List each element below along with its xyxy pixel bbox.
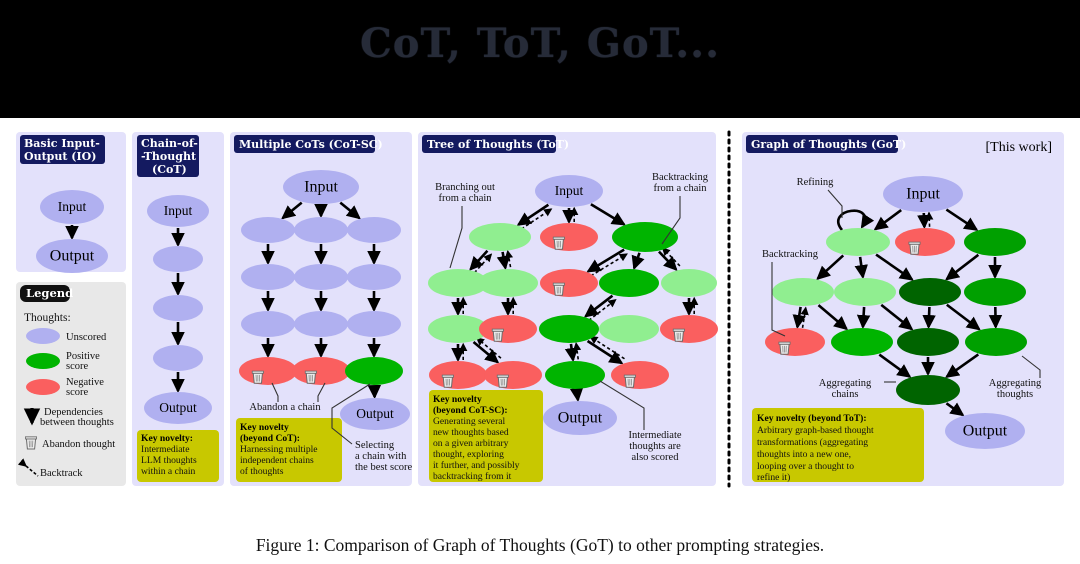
node-tot-L2b[interactable] xyxy=(478,269,538,297)
node-ellipse xyxy=(153,295,203,321)
node-got-D[interactable] xyxy=(772,278,834,306)
panel-title-got: Graph of Thoughts (GoT) xyxy=(746,135,906,153)
figure-area: InputOutputInputOutputInputOutputInputOu… xyxy=(0,118,1080,564)
node-tot-R2a[interactable] xyxy=(599,269,659,297)
note-cot-l1: Intermediate xyxy=(141,444,189,455)
annotation-agg-thoughts-l1: Aggregating xyxy=(989,378,1042,389)
annotation-selecting-l1: Selecting xyxy=(355,440,395,451)
note-got-l4: looping over a thought to xyxy=(757,461,854,472)
note-tot-l6: backtracking from it xyxy=(433,471,512,482)
page-root: CoT, ToT, GoT... xyxy=(0,0,1080,564)
legend-swatch-negative xyxy=(26,379,60,395)
trash-icon xyxy=(442,375,453,387)
node-tot-R1[interactable] xyxy=(612,222,678,252)
note-tot-title-1: Key novelty xyxy=(433,394,482,405)
panel-title-cot-l2: -Thought xyxy=(141,150,197,163)
node-ellipse xyxy=(241,264,295,290)
node-cotsc-c1[interactable] xyxy=(347,217,401,243)
node-label: Input xyxy=(164,203,193,218)
legend-label-abandon: Abandon thought xyxy=(42,439,115,450)
node-ellipse xyxy=(294,217,348,243)
node-cot-n3[interactable] xyxy=(153,345,203,371)
node-got-L[interactable] xyxy=(896,375,960,405)
trash-icon xyxy=(553,283,564,295)
panel-title-tot: Tree of Thoughts (ToT) xyxy=(422,135,569,153)
node-label: Input xyxy=(304,179,338,196)
node-cotsc-b1[interactable] xyxy=(294,217,348,243)
node-ellipse xyxy=(294,264,348,290)
annotation-selecting-l2: a chain with xyxy=(355,451,407,462)
trash-icon xyxy=(305,371,316,383)
node-io-in[interactable]: Input xyxy=(40,190,104,224)
node-got-F[interactable] xyxy=(899,278,961,306)
trash-icon xyxy=(497,375,508,387)
annotation-abandon-a-chain: Abandon a chain xyxy=(249,402,321,413)
note-cotsc-title-1: Key novelty xyxy=(240,422,289,433)
figure-caption: Figure 1: Comparison of Graph of Thought… xyxy=(0,535,1080,556)
note-got-l1: Arbitrary graph-based thought xyxy=(757,425,874,436)
node-tot-R3a[interactable] xyxy=(599,315,659,343)
legend-title: Legend xyxy=(26,286,73,300)
page-title: CoT, ToT, GoT... xyxy=(360,20,720,67)
node-ellipse xyxy=(540,223,598,251)
node-got-C[interactable] xyxy=(964,228,1026,256)
note-cot-l3: within a chain xyxy=(141,466,196,477)
node-tot-M2[interactable] xyxy=(540,269,598,297)
node-tot-L3b[interactable] xyxy=(479,315,537,343)
trash-icon xyxy=(909,242,920,254)
note-tot-l1: Generating several xyxy=(433,416,506,427)
node-ellipse xyxy=(241,217,295,243)
node-tot-R3b[interactable] xyxy=(660,315,718,343)
node-ellipse xyxy=(826,228,890,256)
panel-title-cot-l1: Chain-of- xyxy=(141,137,198,150)
annotation-agg-chains-l1: Aggregating xyxy=(819,378,872,389)
node-got-A[interactable] xyxy=(826,228,890,256)
annotation-tot-backtracking-l2: from a chain xyxy=(653,183,707,194)
legend-swatch-positive xyxy=(26,353,60,369)
node-cotsc-b4[interactable] xyxy=(292,357,350,385)
panel-title-cotsc: Multiple CoTs (CoT-SC) xyxy=(234,135,383,153)
panel-title-tot: Tree of Thoughts (ToT) xyxy=(427,138,569,151)
node-got-I[interactable] xyxy=(831,328,893,356)
node-ellipse xyxy=(896,375,960,405)
note-cotsc-l3: of thoughts xyxy=(240,466,284,477)
annotation-agg-thoughts-l2: thoughts xyxy=(997,389,1033,400)
panel-title-cotsc: Multiple CoTs (CoT-SC) xyxy=(239,138,383,151)
node-got-K[interactable] xyxy=(965,328,1027,356)
node-tot-M3[interactable] xyxy=(539,315,599,343)
annotation-selecting-l3: the best score xyxy=(355,462,412,473)
node-ellipse xyxy=(347,217,401,243)
node-ellipse xyxy=(478,269,538,297)
annotation-intermediate-l2: thoughts are xyxy=(629,441,681,452)
node-got-B[interactable] xyxy=(895,228,955,256)
annotation-branching-l2: from a chain xyxy=(438,193,492,204)
node-ellipse xyxy=(153,345,203,371)
note-cotsc-title-2: (beyond CoT): xyxy=(240,433,300,444)
node-ellipse xyxy=(239,357,297,385)
node-ellipse xyxy=(765,328,825,356)
node-got-G[interactable] xyxy=(964,278,1026,306)
node-tot-R4[interactable] xyxy=(611,361,669,389)
node-cotsc-c4[interactable] xyxy=(345,357,403,385)
note-cot: Key novelty: Intermediate LLM thoughts w… xyxy=(137,430,219,482)
node-got-in[interactable]: Input xyxy=(883,176,963,212)
node-ellipse xyxy=(661,269,717,297)
node-io-out[interactable]: Output xyxy=(36,239,108,273)
node-cotsc-c2[interactable] xyxy=(347,264,401,290)
node-label: Input xyxy=(58,199,87,214)
title-bar: CoT, ToT, GoT... xyxy=(0,0,1080,118)
legend-label-negative-2: score xyxy=(66,387,88,398)
node-ellipse xyxy=(345,357,403,385)
note-cot-title: Key novelty: xyxy=(141,433,193,444)
node-tot-M4[interactable] xyxy=(545,361,605,389)
node-cot-in[interactable]: Input xyxy=(147,195,209,227)
note-got-l2: transformations (aggregating xyxy=(757,437,868,448)
node-label: Output xyxy=(50,248,95,265)
annotation-got-backtracking: Backtracking xyxy=(762,249,819,260)
node-tot-M1[interactable] xyxy=(540,223,598,251)
panel-title-got: Graph of Thoughts (GoT) xyxy=(751,138,906,151)
note-tot-title-2: (beyond CoT-SC): xyxy=(433,405,508,416)
node-ellipse xyxy=(599,269,659,297)
node-ellipse xyxy=(899,278,961,306)
note-cotsc-l1: Harnessing multiple xyxy=(240,444,318,455)
node-ellipse xyxy=(347,311,401,337)
note-cotsc-l2: independent chains xyxy=(240,455,314,466)
node-label: Output xyxy=(159,400,197,415)
node-cot-n2[interactable] xyxy=(153,295,203,321)
node-ellipse xyxy=(831,328,893,356)
node-ellipse xyxy=(292,357,350,385)
node-cotsc-a2[interactable] xyxy=(241,264,295,290)
node-tot-in[interactable]: Input xyxy=(535,175,603,207)
trash-icon xyxy=(779,342,790,354)
node-cotsc-a3[interactable] xyxy=(241,311,295,337)
node-label: Output xyxy=(356,406,394,421)
node-ellipse xyxy=(539,315,599,343)
legend-trash-icon xyxy=(25,437,36,449)
node-got-out[interactable]: Output xyxy=(945,413,1025,449)
annotation-refining: Refining xyxy=(797,177,834,188)
legend-label-positive-2: score xyxy=(66,361,88,372)
node-cot-n1[interactable] xyxy=(153,246,203,272)
this-work-label: [This work] xyxy=(986,140,1053,155)
note-got-l3: thoughts into a new one, xyxy=(757,449,851,460)
edge-got-in-B xyxy=(924,213,925,227)
node-ellipse xyxy=(611,361,669,389)
trash-icon xyxy=(492,329,503,341)
annotation-branching-l1: Branching out xyxy=(435,182,495,193)
node-tot-L4b[interactable] xyxy=(484,361,542,389)
node-ellipse xyxy=(545,361,605,389)
node-tot-R2b[interactable] xyxy=(661,269,717,297)
node-ellipse xyxy=(964,278,1026,306)
trash-icon xyxy=(624,375,635,387)
note-tot-l2: new thoughts based xyxy=(433,427,509,438)
edge-tot-M4-out xyxy=(577,390,578,400)
node-ellipse xyxy=(612,222,678,252)
note-got-title: Key novelty (beyond ToT): xyxy=(757,413,867,424)
edge-backtrack-got-B-in xyxy=(929,213,930,227)
node-ellipse xyxy=(347,264,401,290)
node-ellipse xyxy=(964,228,1026,256)
annotation-tot-backtracking-l1: Backtracking xyxy=(652,172,709,183)
note-got-l5: refine it) xyxy=(757,472,790,483)
node-got-H[interactable] xyxy=(765,328,825,356)
note-cot-l2: LLM thoughts xyxy=(141,455,197,466)
node-ellipse xyxy=(241,311,295,337)
note-cotsc: Key novelty (beyond CoT): Harnessing mul… xyxy=(236,418,342,482)
note-tot-l3: on a given arbitrary xyxy=(433,438,509,449)
node-ellipse xyxy=(599,315,659,343)
annotation-intermediate-l3: also scored xyxy=(632,452,680,463)
node-cotsc-c3[interactable] xyxy=(347,311,401,337)
node-cotsc-a1[interactable] xyxy=(241,217,295,243)
node-label: Output xyxy=(558,410,603,427)
figure-svg: InputOutputInputOutputInputOutputInputOu… xyxy=(0,118,1080,564)
note-tot-l4: thought, exploring xyxy=(433,449,504,460)
legend-label-backtrack: Backtrack xyxy=(40,468,83,479)
edge-got-E-I xyxy=(863,307,864,327)
note-got: Key novelty (beyond ToT): Arbitrary grap… xyxy=(752,408,924,483)
node-ellipse xyxy=(294,311,348,337)
node-cotsc-out[interactable]: Output xyxy=(340,398,410,430)
node-label: Input xyxy=(906,186,940,203)
node-ellipse xyxy=(540,269,598,297)
node-cot-out[interactable]: Output xyxy=(144,392,212,424)
node-ellipse xyxy=(897,328,959,356)
legend-label-dependencies-2: between thoughts xyxy=(40,417,114,428)
node-cotsc-in[interactable]: Input xyxy=(283,170,359,204)
node-label: Input xyxy=(555,183,584,198)
node-tot-out[interactable]: Output xyxy=(543,401,617,435)
node-ellipse xyxy=(660,315,718,343)
node-got-E[interactable] xyxy=(834,278,896,306)
node-tot-L1[interactable] xyxy=(469,223,531,251)
annotation-agg-chains-l2: chains xyxy=(832,389,859,400)
node-cotsc-a4[interactable] xyxy=(239,357,297,385)
trash-icon xyxy=(252,371,263,383)
panel-title-cot: Chain-of- -Thought (CoT) xyxy=(137,135,199,177)
node-cotsc-b2[interactable] xyxy=(294,264,348,290)
panel-title-io-l2: Output (IO) xyxy=(24,150,96,163)
node-ellipse xyxy=(484,361,542,389)
node-tot-L4a[interactable] xyxy=(429,361,487,389)
node-ellipse xyxy=(895,228,955,256)
node-ellipse xyxy=(772,278,834,306)
node-ellipse xyxy=(153,246,203,272)
node-cotsc-b3[interactable] xyxy=(294,311,348,337)
edge-got-F-J xyxy=(929,307,930,327)
legend-label-unscored: Unscored xyxy=(66,332,107,343)
note-tot-l5: it further, and possibly xyxy=(433,460,520,471)
trash-icon xyxy=(673,329,684,341)
node-got-J[interactable] xyxy=(897,328,959,356)
legend-thoughts-header: Thoughts: xyxy=(24,312,71,324)
panel-title-io-l1: Basic Input- xyxy=(24,137,100,150)
note-tot: Key novelty (beyond CoT-SC): Generating … xyxy=(429,390,543,482)
trash-icon xyxy=(553,237,564,249)
node-ellipse xyxy=(469,223,531,251)
annotation-intermediate-l1: Intermediate xyxy=(628,430,681,441)
node-ellipse xyxy=(965,328,1027,356)
legend-swatch-unscored xyxy=(26,328,60,344)
panel-title-cot-l3: (CoT) xyxy=(152,163,187,176)
node-label: Output xyxy=(963,423,1008,440)
panel-title-io: Basic Input- Output (IO) xyxy=(20,135,105,164)
node-ellipse xyxy=(834,278,896,306)
node-ellipse xyxy=(479,315,537,343)
node-ellipse xyxy=(429,361,487,389)
